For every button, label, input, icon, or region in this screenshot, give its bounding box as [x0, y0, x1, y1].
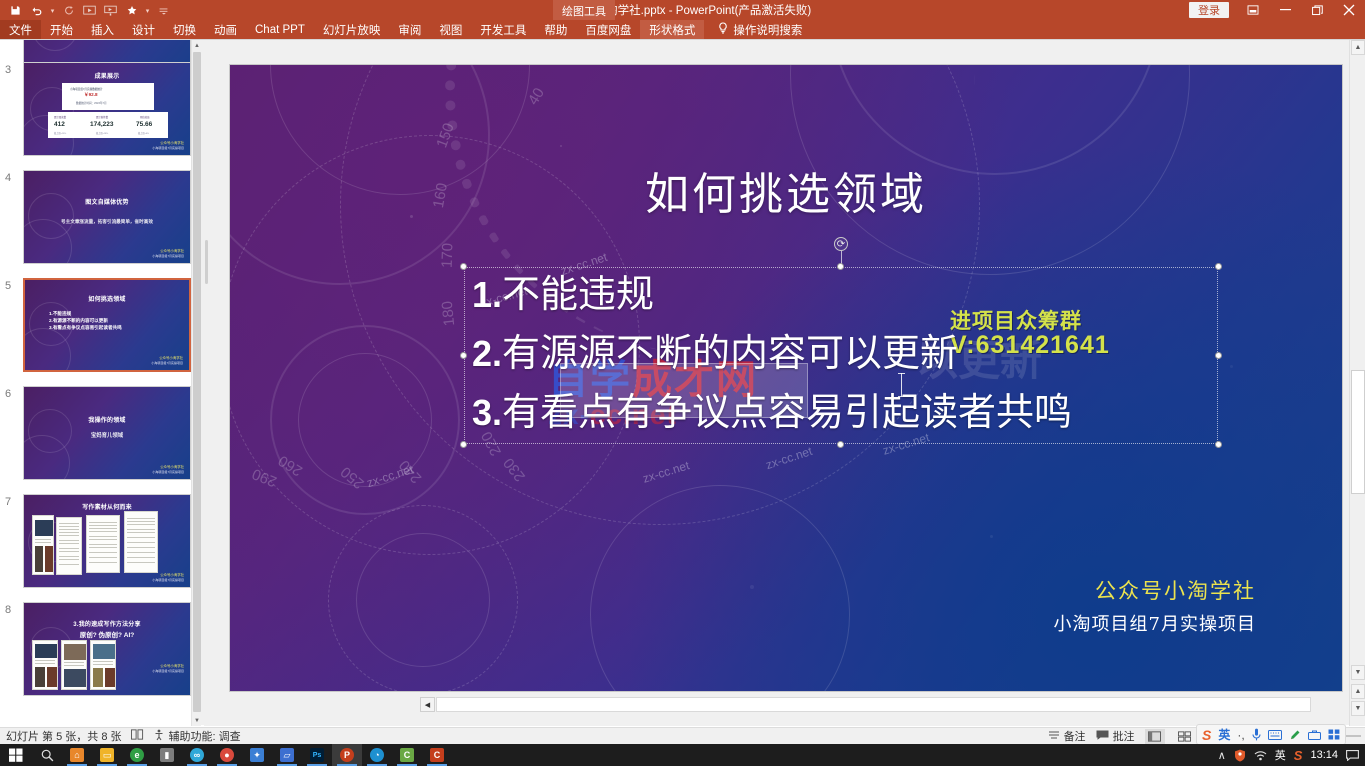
thumbnail-scroll-down-icon[interactable]: ▼: [192, 715, 201, 726]
thumbnail-number: 8: [5, 604, 19, 616]
thumbnail-title: 成果展示: [24, 71, 190, 80]
status-left: 幻灯片 第 5 张，共 8 张 辅助功能: 调查: [0, 728, 241, 744]
taskbar-item-blue-app[interactable]: ▱: [272, 744, 302, 766]
thumbnail-number: 4: [5, 172, 19, 184]
thumbnail-footer: 公众号小淘学社 小淘项目组7月实操项目: [152, 573, 184, 582]
window-controls: [1237, 0, 1365, 20]
resize-handle-se[interactable]: [1215, 441, 1222, 448]
slideshow-from-current-icon[interactable]: [101, 1, 120, 19]
thumbnail-footer: 公众号小淘学社 小淘项目组7月实操项目: [151, 356, 183, 365]
slide-position-label[interactable]: 幻灯片 第 5 张，共 8 张: [6, 728, 122, 744]
tab-review[interactable]: 审阅: [389, 20, 430, 39]
bullet-number: 1.: [472, 274, 502, 315]
workspace: 3 成果展示 小淘项目组7月实操数据统计 ￥92.8 数据统计时间：2023年7…: [0, 39, 1365, 725]
taskbar-item-usb-drive[interactable]: ▮: [152, 744, 182, 766]
thumbnail-footer: 公众号小淘学社 小淘项目组7月实操项目: [152, 664, 184, 673]
start-slideshow-icon[interactable]: [80, 1, 99, 19]
bullet-list[interactable]: 1.不能违规 2.有源源不断的内容可以更新 3.有看点有争议点容易引起读者共鸣: [472, 265, 1226, 442]
toolbox-icon[interactable]: [1308, 730, 1321, 740]
comment-icon: [1096, 730, 1109, 743]
next-slide-icon[interactable]: ▼: [1351, 701, 1365, 716]
thumbnail-scroll-thumb[interactable]: [193, 52, 201, 712]
tab-baidu-netdisk[interactable]: 百度网盘: [576, 20, 640, 39]
taskbar-item-qq[interactable]: ∞: [182, 744, 212, 766]
rotation-handle[interactable]: ⟳: [834, 237, 848, 251]
scroll-down-icon[interactable]: ▼: [1351, 665, 1365, 680]
thumbnail-footer: 公众号小淘学社 小淘项目组7月实操项目: [152, 465, 184, 474]
action-center-icon[interactable]: [1346, 750, 1359, 761]
content-placeholder-textbox[interactable]: ⟳ 1.不能违规 2: [464, 267, 1218, 444]
thumbnail-subtitle: 原创? 伪原创? AI?: [24, 629, 190, 639]
thumbnail-title: 3.我的速成写作方法分享: [24, 619, 190, 628]
restore-icon[interactable]: [1301, 0, 1333, 20]
dial-number: 290: [250, 465, 280, 490]
lightbulb-icon: [718, 22, 728, 37]
dial-number: 170: [439, 243, 457, 269]
bullet-text: 有看点有争议点容易引起读者共鸣: [502, 390, 1072, 434]
decorative-ring: [356, 533, 490, 667]
slide-sorter-view-button[interactable]: [1175, 729, 1195, 744]
thumbnail-title: 图文自媒体优势: [24, 197, 190, 206]
thumbnail-stat-value: 174,223: [90, 121, 114, 128]
footer-brand: 公众号小淘学社: [1054, 575, 1256, 605]
sogou-tray-icon[interactable]: S: [1294, 748, 1303, 763]
ribbon-tab-bar: 文件 开始 插入 设计 切换 动画 Chat PPT 幻灯片放映 审阅 视图 开…: [0, 20, 1365, 39]
system-tray: ∧ 英 S 13:14: [1218, 747, 1365, 763]
taskbar-item-file-explorer[interactable]: ▭: [92, 744, 122, 766]
decorative-ring: [270, 325, 460, 515]
previous-slide-icon[interactable]: ▲: [1351, 684, 1365, 699]
undo-icon[interactable]: [27, 1, 46, 19]
thumbnail-scroll-up-icon[interactable]: ▲: [192, 40, 201, 51]
thumbnail-subtitle: 号主文章涨流量，拓客引流最简单，省时高效: [24, 219, 190, 225]
resize-handle-s[interactable]: [837, 441, 844, 448]
thumbnail-footer: 公众号小淘学社 小淘项目组7月实操项目: [152, 249, 184, 258]
redo-icon[interactable]: [59, 1, 78, 19]
tab-shape-format[interactable]: 形状格式: [640, 20, 704, 39]
taskbar-item-photoshop[interactable]: Ps: [302, 744, 332, 766]
ribbon-tabs: 文件 开始 插入 设计 切换 动画 Chat PPT 幻灯片放映 审阅 视图 开…: [0, 20, 1365, 39]
language-icon[interactable]: [131, 729, 144, 743]
taskbar-item-wechat[interactable]: ✦: [242, 744, 272, 766]
status-bar: 幻灯片 第 5 张，共 8 张 辅助功能: 调查 备注: [0, 727, 1365, 744]
horizontal-scroll-track[interactable]: [436, 697, 1311, 712]
window-title-container: 1公众号小淘学社.pptx - PowerPoint(产品激活失败): [0, 0, 1365, 20]
clock[interactable]: 13:14: [1310, 749, 1338, 761]
taskbar-item-powerpoint[interactable]: P: [332, 744, 362, 766]
windows-taskbar: ⌂ ▭ e ▮ ∞ ● ✦ ▱ Ps P ◔ C C ∧ 英 S 13:14: [0, 744, 1365, 766]
dial-number: 260: [275, 452, 305, 480]
keyboard-icon[interactable]: [1268, 730, 1282, 740]
taskbar-item-edge[interactable]: e: [122, 744, 152, 766]
minimize-icon[interactable]: [1269, 0, 1301, 20]
antivirus-icon[interactable]: [1234, 749, 1246, 762]
thumbnail-title: 如何挑选领域: [25, 294, 189, 303]
close-icon[interactable]: [1333, 0, 1365, 20]
vertical-scroll-thumb[interactable]: [1351, 370, 1365, 494]
ime-english-icon[interactable]: 英: [1275, 747, 1286, 763]
sogou-ime-toolbar[interactable]: S 英 ·,: [1196, 724, 1346, 745]
scroll-up-icon[interactable]: ▲: [1351, 40, 1365, 55]
skin-icon[interactable]: [1289, 729, 1301, 741]
slide-thumbnail-image[interactable]: 3.我的速成写作方法分享 原创? 伪原创? AI?: [23, 602, 191, 696]
favorites-dropdown-icon[interactable]: ▾: [143, 1, 152, 19]
thumbnail-bullets: 1.不能违规 2.有源源不断的内容可以更新 3.有看点有争议点容易引起读者共鸣: [49, 310, 122, 331]
thumbnail-number: 7: [5, 496, 19, 508]
tab-chat-ppt[interactable]: Chat PPT: [246, 20, 314, 39]
powerpoint-window: ▾ ▾ 1公众号小淘学社.pptx - PowerPoint(产品激活失败) 绘…: [0, 0, 1365, 766]
ribbon-display-options-icon[interactable]: [1237, 0, 1269, 20]
vertical-scrollbar[interactable]: ▲ ▼ ▲ ▼: [1349, 40, 1365, 726]
tell-me-label: 操作说明搜索: [733, 22, 802, 38]
site-watermark: zx-cc.net: [641, 458, 691, 485]
thumbnail-number: 3: [5, 64, 19, 76]
tab-slideshow[interactable]: 幻灯片放映: [314, 20, 390, 39]
taskbar-item-evernote[interactable]: ◔: [362, 744, 392, 766]
punctuation-icon[interactable]: ·,: [1237, 728, 1244, 742]
bullet-text: 有源源不断的内容可以更新: [502, 331, 958, 375]
slide-footer[interactable]: 公众号小淘学社 小淘项目组7月实操项目: [1054, 575, 1256, 636]
tab-view[interactable]: 视图: [430, 20, 471, 39]
quick-access-toolbar: ▾ ▾: [0, 0, 173, 20]
taskbar-item-camtasia[interactable]: C: [392, 744, 422, 766]
slide-title[interactable]: 如何挑选领域: [230, 158, 1342, 222]
more-icon[interactable]: [1328, 729, 1340, 740]
thumbnail-title: 写作素材从何而来: [24, 502, 190, 511]
bullet-text: 不能违规: [502, 272, 654, 316]
taskbar-item-orange-app[interactable]: ⌂: [62, 744, 92, 766]
customize-qat-icon[interactable]: [154, 1, 173, 19]
notes-icon: [1048, 730, 1060, 743]
title-bar: ▾ ▾ 1公众号小淘学社.pptx - PowerPoint(产品激活失败) 绘…: [0, 0, 1365, 20]
decorative-ring: [590, 485, 850, 691]
tab-home[interactable]: 开始: [41, 20, 82, 39]
dial-number: 240: [396, 457, 425, 487]
thumbnail-title: 我操作的领域: [24, 415, 190, 424]
bullet-number: 3.: [472, 392, 502, 433]
dial-number: 250: [337, 463, 367, 492]
scroll-left-icon[interactable]: ◀: [420, 697, 435, 712]
slide-editing-area[interactable]: 40 150 160 170 180 220 230 240 250 260 2…: [209, 40, 1341, 726]
taskbar-item-camtasia-editor[interactable]: C: [422, 744, 452, 766]
contextual-tab-group-label: 绘图工具: [553, 0, 615, 21]
tab-insert[interactable]: 插入: [82, 20, 123, 39]
tab-transitions[interactable]: 切换: [164, 20, 205, 39]
dial-number: 150: [433, 121, 458, 150]
thumbnail-number: 5: [5, 280, 19, 292]
slide-thumbnail-image[interactable]: 图文自媒体优势 号主文章涨流量，拓客引流最简单，省时高效 公众号小淘学社 小淘项…: [23, 170, 191, 264]
dial-number: 180: [439, 300, 459, 327]
sign-in-button[interactable]: 登录: [1189, 2, 1229, 18]
tab-help[interactable]: 帮助: [535, 20, 576, 39]
show-hidden-icons-icon[interactable]: ∧: [1218, 749, 1226, 762]
favorites-star-icon[interactable]: [122, 1, 141, 19]
taskbar-item-chrome[interactable]: ●: [212, 744, 242, 766]
slide-thumbnail-image[interactable]: 写作素材从何而来: [23, 494, 191, 588]
thumbnail-number: 6: [5, 388, 19, 400]
bullet-item: 3.有看点有争议点容易引起读者共鸣: [472, 383, 1226, 442]
normal-view-button[interactable]: [1145, 729, 1165, 744]
resize-handle-w[interactable]: [460, 352, 467, 359]
bullet-item: 2.有源源不断的内容可以更新: [472, 324, 1226, 383]
bullet-item: 1.不能违规: [472, 265, 1226, 324]
current-slide-canvas[interactable]: 40 150 160 170 180 220 230 240 250 260 2…: [230, 65, 1342, 691]
tab-file[interactable]: 文件: [0, 20, 41, 39]
tab-design[interactable]: 设计: [123, 20, 164, 39]
slide-thumbnail-image[interactable]: 成果展示 小淘项目组7月实操数据统计 ￥92.8 数据统计时间：2023年7月 …: [23, 62, 191, 156]
save-icon[interactable]: [6, 1, 25, 19]
thumbnail-subtitle: 宝妈育儿领域: [24, 431, 190, 439]
voice-input-icon[interactable]: [1252, 728, 1261, 741]
slide-thumbnail-image[interactable]: 我操作的领域 宝妈育儿领域 公众号小淘学社 小淘项目组7月实操项目: [23, 386, 191, 480]
horizontal-scrollbar[interactable]: ◀: [418, 697, 1317, 712]
bullet-number: 2.: [472, 333, 502, 374]
pane-splitter-grip[interactable]: [205, 240, 208, 284]
accessibility-status[interactable]: 辅助功能: 调查: [153, 728, 241, 744]
resize-handle-sw[interactable]: [460, 441, 467, 448]
tab-developer[interactable]: 开发工具: [471, 20, 535, 39]
sogou-logo-icon[interactable]: S: [1202, 727, 1211, 743]
decorative-dashed-ring: [328, 505, 518, 691]
tab-animations[interactable]: 动画: [205, 20, 246, 39]
windows-start-icon[interactable]: [0, 744, 32, 766]
footer-subtitle: 小淘项目组7月实操项目: [1054, 610, 1256, 636]
accessibility-icon: [153, 729, 165, 744]
thumbnail-stat-value: 412: [54, 121, 65, 128]
english-mode-icon[interactable]: 英: [1218, 726, 1230, 743]
tell-me-search[interactable]: 操作说明搜索: [704, 20, 802, 39]
resize-handle-nw[interactable]: [460, 263, 467, 270]
thumbnail-stat-value: 75.66: [136, 121, 152, 128]
slide-thumbnail-pane[interactable]: 3 成果展示 小淘项目组7月实操数据统计 ￥92.8 数据统计时间：2023年7…: [0, 40, 201, 726]
comments-button[interactable]: 批注: [1096, 728, 1135, 744]
notes-button[interactable]: 备注: [1048, 728, 1086, 744]
slide-thumbnail-image-selected[interactable]: 如何挑选领域 1.不能违规 2.有源源不断的内容可以更新 3.有看点有争议点容易…: [23, 278, 191, 372]
undo-dropdown-icon[interactable]: ▾: [48, 1, 57, 19]
thumbnail-scrollbar[interactable]: ▲ ▼: [191, 40, 201, 726]
thumbnail-footer: 公众号小淘学社 小淘项目组7月实操项目: [152, 141, 184, 150]
dial-number: 40: [525, 85, 548, 108]
network-icon[interactable]: [1254, 750, 1267, 761]
search-icon[interactable]: [32, 744, 62, 766]
site-watermark: zx-cc.net: [764, 444, 814, 472]
dial-number: 230: [500, 454, 529, 484]
